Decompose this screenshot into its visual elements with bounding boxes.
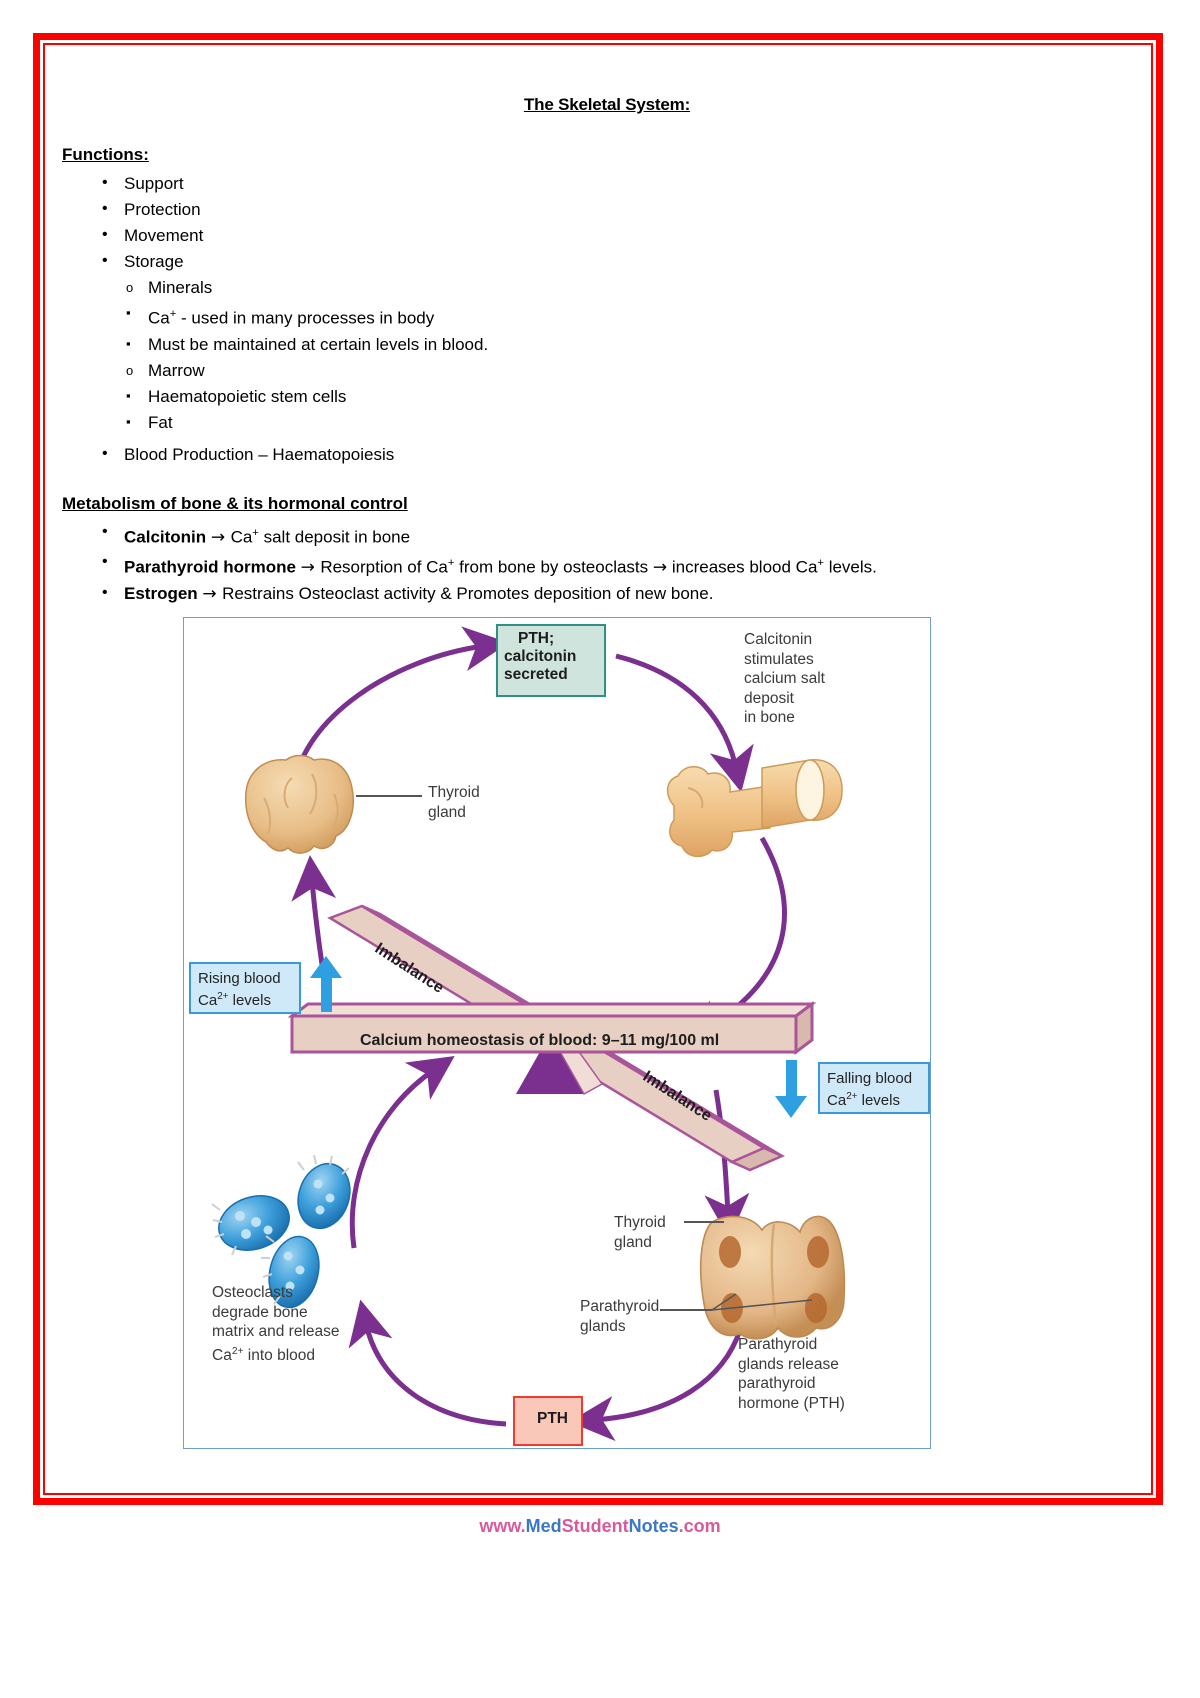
parathyroid-gland-illustration xyxy=(701,1216,845,1338)
list-item-label: Minerals xyxy=(148,278,212,297)
list-item: Support xyxy=(100,171,1082,197)
term-calcitonin: Calcitonin xyxy=(124,527,206,546)
list-item: Ca+ - used in many processes in body xyxy=(124,301,1082,332)
list-item: Haematopoietic stem cells xyxy=(124,384,1082,410)
footer-med: Med xyxy=(526,1516,562,1536)
box-line-1: Falling blood xyxy=(827,1070,928,1088)
list-item: Storage xyxy=(100,249,1082,275)
arrow-glyph: → xyxy=(653,558,667,578)
section-heading-metabolism: Metabolism of bone & its hormonal contro… xyxy=(62,494,1082,514)
metabolism-list: Calcitonin → Ca+ salt deposit in bone Pa… xyxy=(100,520,1082,607)
term-estrogen: Estrogen xyxy=(124,584,198,603)
footer-student: Student xyxy=(562,1516,629,1536)
label-parathyroid-release: Parathyroidglands releaseparathyroidhorm… xyxy=(738,1335,888,1413)
marrow-sublist: Haematopoietic stem cells Fat xyxy=(124,384,1082,436)
list-item: Fat xyxy=(124,410,1082,436)
list-item: Minerals xyxy=(124,275,1082,301)
page-title: The Skeletal System: xyxy=(132,95,1082,115)
footer-www: www. xyxy=(479,1516,525,1536)
calcium-homeostasis-diagram: PTH; calcitonin secreted PTH Rising bloo… xyxy=(183,617,931,1449)
document-content: The Skeletal System: Functions: Support … xyxy=(62,95,1082,607)
box-pth-up: PTH xyxy=(513,1396,583,1446)
list-item: Must be maintained at certain levels in … xyxy=(124,332,1082,358)
list-item: Blood Production – Haematopoiesis xyxy=(100,442,1082,468)
falling-arrow-icon xyxy=(775,1060,807,1118)
box-line-2: Ca2+ levels xyxy=(827,1088,928,1110)
footer-notes: Notes xyxy=(629,1516,679,1536)
list-item-label: Storage xyxy=(124,252,184,271)
box-line-3: secreted xyxy=(504,666,604,684)
box-pth-down-calcitonin-up: PTH; calcitonin secreted xyxy=(496,624,606,697)
minerals-sublist: Ca+ - used in many processes in body Mus… xyxy=(124,301,1082,358)
list-item: Marrow xyxy=(124,358,1082,384)
list-item: Calcitonin → Ca+ salt deposit in bone xyxy=(100,520,1082,551)
label-thyroid-gland-bottom: Thyroidgland xyxy=(614,1213,709,1252)
bone-illustration xyxy=(668,760,842,857)
storage-sublist-2: Marrow xyxy=(124,358,1082,384)
thyroid-gland-top-illustration xyxy=(246,756,354,854)
label-calcitonin-stimulates: Calcitoninstimulatescalcium saltdepositi… xyxy=(744,630,884,728)
box-label-pth: PTH xyxy=(537,1410,568,1427)
box-falling-blood-calcium: Falling blood Ca2+ levels xyxy=(818,1062,930,1114)
box-line-2: calcitonin xyxy=(504,648,604,666)
list-item: Movement xyxy=(100,223,1082,249)
list-item: Parathyroid hormone → Resorption of Ca+ … xyxy=(100,550,1082,581)
footer-com: .com xyxy=(679,1516,721,1536)
arrow-glyph: → xyxy=(211,527,231,547)
box-line-1: Rising blood xyxy=(198,970,299,988)
label-osteoclasts: Osteoclastsdegrade bonematrix and releas… xyxy=(212,1283,387,1365)
document-page: The Skeletal System: Functions: Support … xyxy=(0,0,1200,1698)
functions-list: Support Protection Movement Storage xyxy=(100,171,1082,275)
box-line-1: PTH; xyxy=(518,630,604,648)
label-thyroid-gland-top: Thyroidgland xyxy=(428,783,518,822)
footer-watermark: www.MedStudentNotes.com xyxy=(0,1516,1200,1537)
box-rising-blood-calcium: Rising blood Ca2+ levels xyxy=(189,962,301,1014)
section-heading-functions: Functions: xyxy=(62,145,1082,165)
arrow-glyph: → xyxy=(301,558,321,578)
label-parathyroid-glands: Parathyroidglands xyxy=(580,1297,690,1336)
list-item: Estrogen → Restrains Osteoclast activity… xyxy=(100,581,1082,607)
list-item: Protection xyxy=(100,197,1082,223)
term-parathyroid-hormone: Parathyroid hormone xyxy=(124,558,296,577)
functions-list-tail: Blood Production – Haematopoiesis xyxy=(100,442,1082,468)
box-line-2: Ca2+ levels xyxy=(198,988,299,1010)
storage-sublist: Minerals xyxy=(124,275,1082,301)
arrow-glyph: → xyxy=(202,584,222,604)
homeostasis-bar-label: Calcium homeostasis of blood: 9–11 mg/10… xyxy=(360,1032,719,1050)
